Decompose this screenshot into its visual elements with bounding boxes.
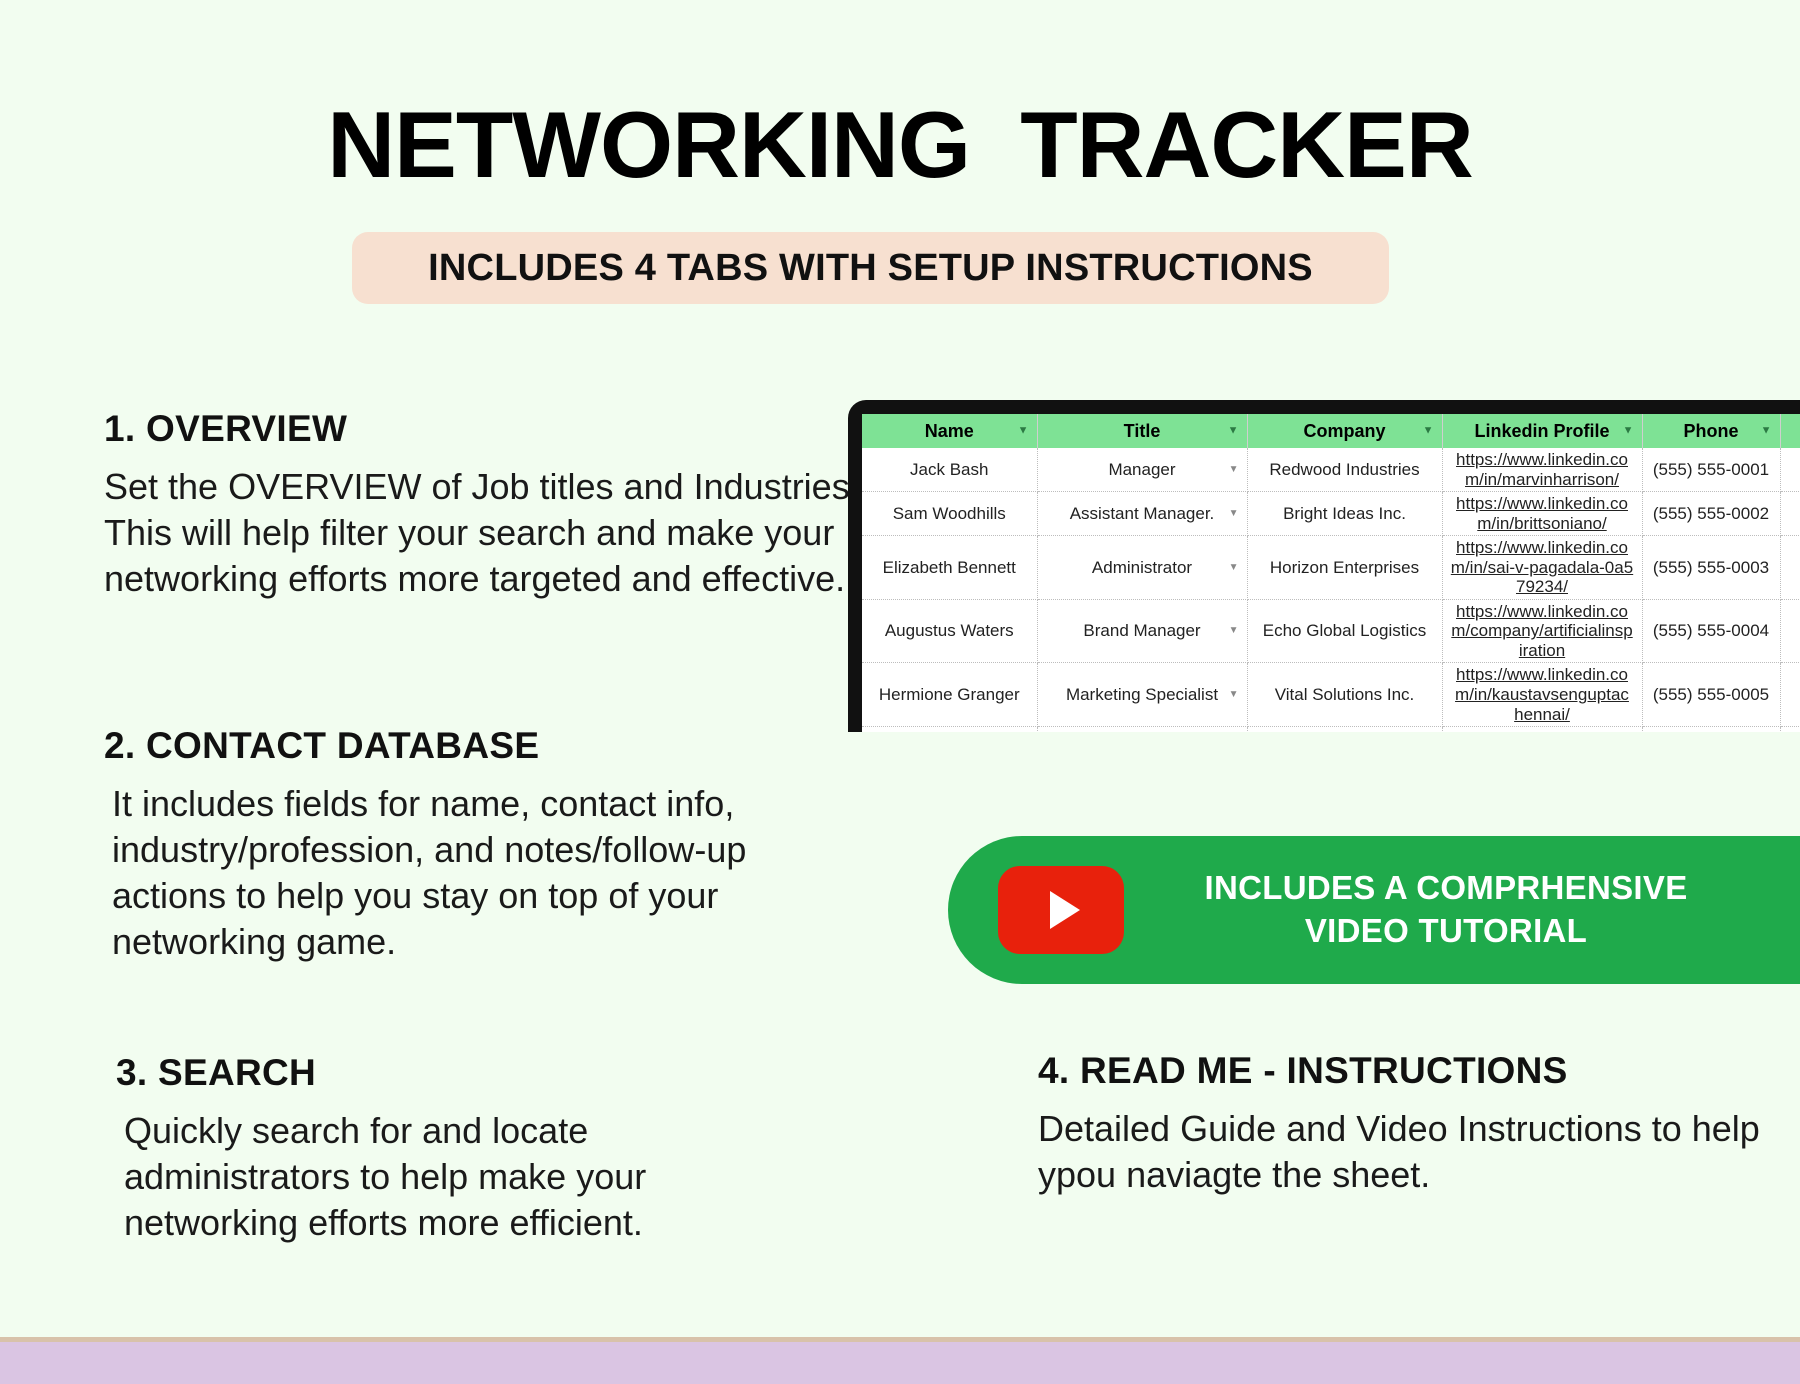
cell-linkedin-profile[interactable]: https://www.linkedin.com/in/marvinharris… bbox=[1442, 727, 1642, 732]
cell-name-value: Augustus Waters bbox=[885, 621, 1014, 640]
column-header-phone[interactable]: Phone ▼ bbox=[1642, 414, 1780, 448]
cell-phone-value: (555) 555-0001 bbox=[1653, 460, 1769, 479]
section-search-heading: 3. SEARCH bbox=[116, 1052, 816, 1094]
section-search: 3. SEARCH Quickly search for and locate … bbox=[116, 1052, 816, 1246]
table-row[interactable]: Hermione GrangerMarketing Specialist▼Vit… bbox=[862, 663, 1800, 727]
cell-phone-value: (555) 555-0003 bbox=[1653, 558, 1769, 577]
tabs-banner-suffix: WITH SETUP INSTRUCTIONS bbox=[768, 247, 1313, 289]
cell-phone[interactable]: (555) 555-0005 bbox=[1642, 663, 1780, 727]
column-header-company-label: Company bbox=[1303, 421, 1385, 441]
cell-company[interactable]: Bright Ideas Inc. bbox=[1247, 492, 1442, 536]
cell-linkedin-profile-value: https://www.linkedin.com/in/kaustavsengu… bbox=[1455, 665, 1629, 723]
cell-phone-value: (555) 555-0002 bbox=[1653, 504, 1769, 523]
cell-name-value: Jack Bash bbox=[910, 460, 988, 479]
youtube-play-icon[interactable] bbox=[998, 866, 1124, 954]
table-row[interactable]: Sam WoodhillsAssistant Manager.▼Bright I… bbox=[862, 492, 1800, 536]
cell-linkedin-profile[interactable]: https://www.linkedin.com/in/marvinharris… bbox=[1442, 448, 1642, 492]
cell-company[interactable]: Vital Solutions Inc. bbox=[1247, 663, 1442, 727]
table-body: Jack BashManager▼Redwood Industrieshttps… bbox=[862, 448, 1800, 732]
cell-email[interactable]: aug bbox=[1780, 599, 1800, 663]
section-contact-database-body: It includes fields for name, contact inf… bbox=[104, 781, 864, 965]
cell-company[interactable]: Bluebird Technologies bbox=[1247, 727, 1442, 732]
cell-company-value: Echo Global Logistics bbox=[1263, 621, 1426, 640]
filter-icon[interactable]: ▼ bbox=[1761, 426, 1772, 437]
dropdown-caret-icon[interactable]: ▼ bbox=[1229, 509, 1239, 519]
cell-company[interactable]: Horizon Enterprises bbox=[1247, 536, 1442, 600]
cell-title-value: Marketing Specialist bbox=[1066, 685, 1218, 704]
cell-email[interactable]: eliza bbox=[1780, 536, 1800, 600]
section-read-me-body: Detailed Guide and Video Instructions to… bbox=[1038, 1106, 1778, 1198]
column-header-company[interactable]: Company ▼ bbox=[1247, 414, 1442, 448]
cell-phone[interactable]: (555) 555-0006 bbox=[1642, 727, 1780, 732]
filter-icon[interactable]: ▼ bbox=[1228, 426, 1239, 437]
cell-company[interactable]: Redwood Industries bbox=[1247, 448, 1442, 492]
cell-linkedin-profile-value: https://www.linkedin.com/in/brittsoniano… bbox=[1456, 494, 1628, 533]
spreadsheet-screenshot-frame: Name ▼ Title ▼ Company ▼ Linkedin Profil… bbox=[848, 400, 1800, 732]
section-overview-body: Set the OVERVIEW of Job titles and Indus… bbox=[104, 464, 864, 602]
cell-email[interactable] bbox=[1780, 492, 1800, 536]
dropdown-caret-icon[interactable]: ▼ bbox=[1229, 690, 1239, 700]
dropdown-caret-icon[interactable]: ▼ bbox=[1229, 465, 1239, 475]
video-banner-line-1: INCLUDES A COMPRHENSIVE bbox=[1205, 869, 1688, 906]
table-row[interactable]: Jack BashManager▼Redwood Industrieshttps… bbox=[862, 448, 1800, 492]
cell-phone[interactable]: (555) 555-0004 bbox=[1642, 599, 1780, 663]
column-header-name-label: Name bbox=[925, 421, 974, 441]
section-read-me-heading: 4. READ ME - INSTRUCTIONS bbox=[1038, 1050, 1778, 1092]
cell-linkedin-profile[interactable]: https://www.linkedin.com/company/artific… bbox=[1442, 599, 1642, 663]
column-header-linkedin-profile[interactable]: Linkedin Profile ▼ bbox=[1442, 414, 1642, 448]
cell-name[interactable]: Hermione Granger bbox=[862, 663, 1037, 727]
cell-company-value: Bright Ideas Inc. bbox=[1283, 504, 1406, 523]
video-tutorial-banner[interactable]: INCLUDES A COMPRHENSIVE VIDEO TUTORIAL bbox=[948, 836, 1800, 984]
cell-linkedin-profile-value: https://www.linkedin.com/in/sai-v-pagada… bbox=[1451, 538, 1633, 596]
cell-company[interactable]: Echo Global Logistics bbox=[1247, 599, 1442, 663]
cell-company-value: Horizon Enterprises bbox=[1270, 558, 1419, 577]
cell-title-value: Manager bbox=[1108, 460, 1175, 479]
cell-phone-value: (555) 555-0004 bbox=[1653, 621, 1769, 640]
cell-phone[interactable]: (555) 555-0002 bbox=[1642, 492, 1780, 536]
cell-name-value: Sam Woodhills bbox=[893, 504, 1006, 523]
section-overview: 1. OVERVIEW Set the OVERVIEW of Job titl… bbox=[104, 408, 864, 602]
cell-linkedin-profile[interactable]: https://www.linkedin.com/in/kaustavsengu… bbox=[1442, 663, 1642, 727]
column-header-phone-label: Phone bbox=[1683, 421, 1738, 441]
tabs-banner-prefix: INCLUDES bbox=[428, 247, 635, 289]
section-read-me: 4. READ ME - INSTRUCTIONS Detailed Guide… bbox=[1038, 1050, 1778, 1198]
cell-linkedin-profile-value: https://www.linkedin.com/in/marvinharris… bbox=[1456, 450, 1628, 489]
table-row[interactable]: Elizabeth BennettAdministrator▼Horizon E… bbox=[862, 536, 1800, 600]
cell-title[interactable]: Marketing Specialist▼ bbox=[1037, 663, 1247, 727]
contact-database-table: Name ▼ Title ▼ Company ▼ Linkedin Profil… bbox=[862, 414, 1800, 732]
cell-email[interactable] bbox=[1780, 448, 1800, 492]
cell-title-value: Brand Manager bbox=[1083, 621, 1200, 640]
tabs-banner-highlight: 4 TABS bbox=[635, 247, 769, 289]
cell-name[interactable]: Augustus Waters bbox=[862, 599, 1037, 663]
column-header-email[interactable]: Email ▼ bbox=[1780, 414, 1800, 448]
section-contact-database-heading: 2. CONTACT DATABASE bbox=[104, 725, 864, 767]
cell-phone-value: (555) 555-0005 bbox=[1653, 685, 1769, 704]
cell-title-value: Assistant Manager. bbox=[1070, 504, 1215, 523]
cell-title[interactable]: Administrator▼ bbox=[1037, 536, 1247, 600]
cell-linkedin-profile-value: https://www.linkedin.com/company/artific… bbox=[1451, 602, 1632, 660]
cell-name[interactable]: Atticus Finch bbox=[862, 727, 1037, 732]
cell-name[interactable]: Sam Woodhills bbox=[862, 492, 1037, 536]
spreadsheet-viewport[interactable]: Name ▼ Title ▼ Company ▼ Linkedin Profil… bbox=[862, 414, 1800, 732]
column-header-title-label: Title bbox=[1124, 421, 1161, 441]
table-row[interactable]: Atticus FinchSoftware Engineer▼Bluebird … bbox=[862, 727, 1800, 732]
tabs-banner: INCLUDES 4 TABS WITH SETUP INSTRUCTIONS bbox=[352, 232, 1389, 304]
video-banner-line-2: VIDEO TUTORIAL bbox=[1305, 912, 1587, 949]
section-contact-database: 2. CONTACT DATABASE It includes fields f… bbox=[104, 725, 864, 965]
column-header-linkedin-profile-label: Linkedin Profile bbox=[1474, 421, 1609, 441]
section-overview-heading: 1. OVERVIEW bbox=[104, 408, 864, 450]
table-header-row: Name ▼ Title ▼ Company ▼ Linkedin Profil… bbox=[862, 414, 1800, 448]
cell-title[interactable]: Software Engineer▼ bbox=[1037, 727, 1247, 732]
cell-title[interactable]: Assistant Manager.▼ bbox=[1037, 492, 1247, 536]
cell-title-value: Administrator bbox=[1092, 558, 1192, 577]
cell-phone[interactable]: (555) 555-0001 bbox=[1642, 448, 1780, 492]
cell-name[interactable]: Jack Bash bbox=[862, 448, 1037, 492]
cell-company-value: Redwood Industries bbox=[1269, 460, 1419, 479]
cell-company-value: Vital Solutions Inc. bbox=[1275, 685, 1415, 704]
dropdown-caret-icon[interactable]: ▼ bbox=[1229, 626, 1239, 636]
cell-name-value: Elizabeth Bennett bbox=[883, 558, 1016, 577]
dropdown-caret-icon[interactable]: ▼ bbox=[1229, 563, 1239, 573]
cell-email[interactable]: herm bbox=[1780, 663, 1800, 727]
filter-icon[interactable]: ▼ bbox=[1018, 426, 1029, 437]
section-search-body: Quickly search for and locate administra… bbox=[116, 1108, 816, 1246]
filter-icon[interactable]: ▼ bbox=[1623, 426, 1634, 437]
column-header-title[interactable]: Title ▼ bbox=[1037, 414, 1247, 448]
cell-email[interactable]: a bbox=[1780, 727, 1800, 732]
play-triangle-icon bbox=[1050, 891, 1080, 929]
tabs-banner-label: INCLUDES 4 TABS WITH SETUP INSTRUCTIONS bbox=[428, 247, 1313, 290]
filter-icon[interactable]: ▼ bbox=[1423, 426, 1434, 437]
cell-title[interactable]: Manager▼ bbox=[1037, 448, 1247, 492]
cell-phone[interactable]: (555) 555-0003 bbox=[1642, 536, 1780, 600]
page-title: NETWORKING TRACKER bbox=[0, 96, 1800, 195]
cell-linkedin-profile-value: https://www.linkedin.com/in/marvinharris… bbox=[1456, 729, 1628, 732]
table-row[interactable]: Augustus WatersBrand Manager▼Echo Global… bbox=[862, 599, 1800, 663]
column-header-name[interactable]: Name ▼ bbox=[862, 414, 1037, 448]
cell-name-value: Hermione Granger bbox=[879, 685, 1020, 704]
cell-linkedin-profile[interactable]: https://www.linkedin.com/in/sai-v-pagada… bbox=[1442, 536, 1642, 600]
video-tutorial-banner-label: INCLUDES A COMPRHENSIVE VIDEO TUTORIAL bbox=[1124, 867, 1800, 953]
cell-name[interactable]: Elizabeth Bennett bbox=[862, 536, 1037, 600]
cell-linkedin-profile[interactable]: https://www.linkedin.com/in/brittsoniano… bbox=[1442, 492, 1642, 536]
bottom-color-bar bbox=[0, 1342, 1800, 1384]
cell-title[interactable]: Brand Manager▼ bbox=[1037, 599, 1247, 663]
